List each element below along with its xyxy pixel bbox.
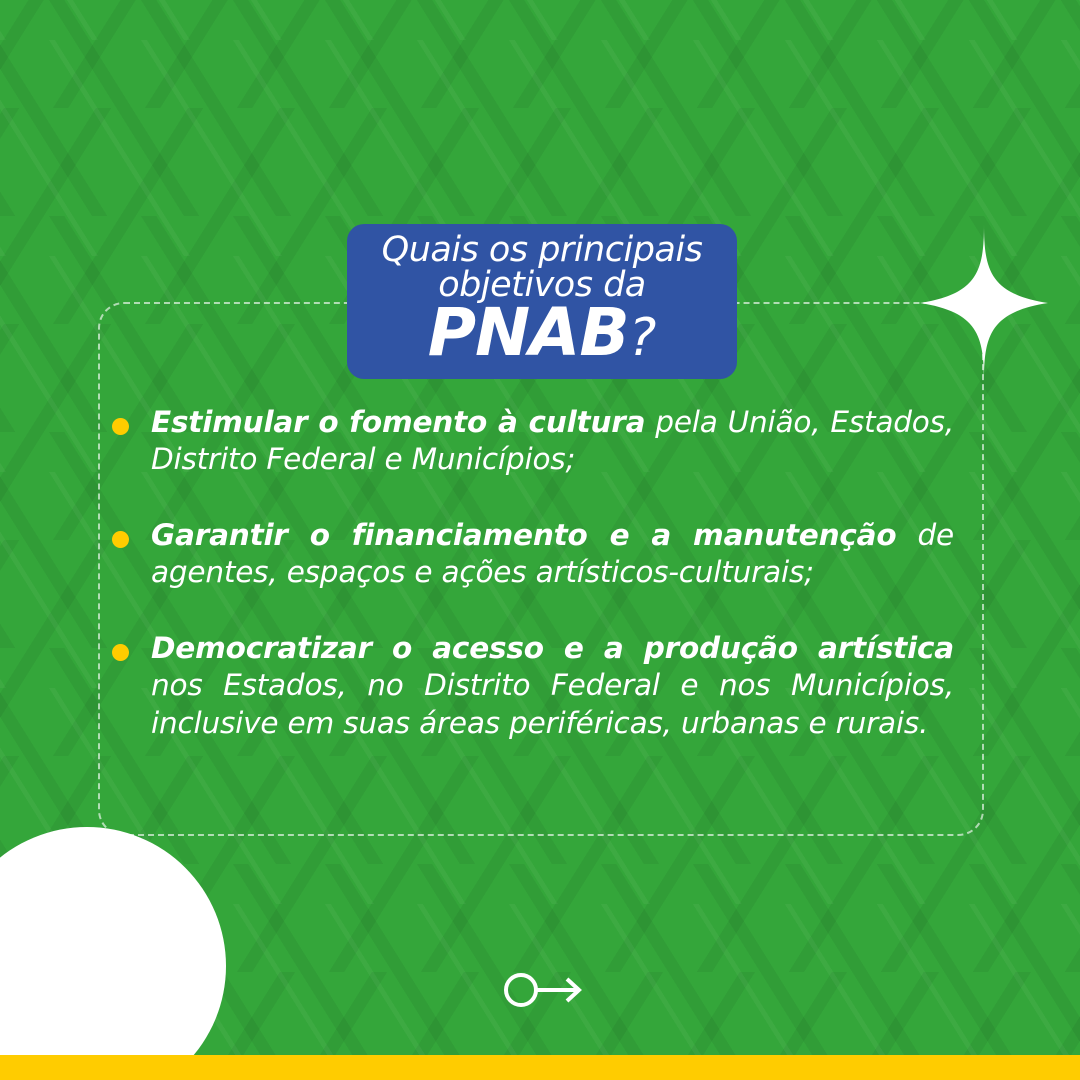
title-question-mark: ? bbox=[629, 312, 657, 364]
objectives-list: Estimular o fomento à cultura pela União… bbox=[112, 404, 954, 742]
title-acronym: PNAB bbox=[428, 300, 629, 366]
list-item: Estimular o fomento à cultura pela União… bbox=[112, 404, 954, 479]
list-item: Democratizar o acesso e a produção artís… bbox=[112, 630, 954, 742]
bullet-text-1: Estimular o fomento à cultura pela União… bbox=[151, 404, 954, 479]
sparkle-star-icon bbox=[920, 224, 1048, 382]
bullet-lead-2: Garantir o financiamento e a manutenção bbox=[151, 518, 896, 552]
title-acronym-row: PNAB ? bbox=[428, 300, 657, 366]
bullet-rest-3: nos Estados, no Distrito Federal e nos M… bbox=[151, 668, 954, 739]
slide-canvas: Quais os principais objetivos da PNAB ? … bbox=[0, 0, 1080, 1080]
bullet-dot-icon bbox=[112, 531, 129, 548]
list-item: Garantir o financiamento e a manutenção … bbox=[112, 517, 954, 592]
bottom-accent-bar bbox=[0, 1055, 1080, 1080]
bullet-text-2: Garantir o financiamento e a manutenção … bbox=[151, 517, 954, 592]
title-banner: Quais os principais objetivos da PNAB ? bbox=[347, 224, 737, 379]
bullet-lead-3: Democratizar o acesso e a produção artís… bbox=[151, 631, 954, 665]
circle-arrow-right-icon[interactable] bbox=[503, 968, 585, 1012]
title-line-1: Quais os principais bbox=[382, 233, 703, 267]
bullet-text-3: Democratizar o acesso e a produção artís… bbox=[151, 630, 954, 742]
bullet-dot-icon bbox=[112, 418, 129, 435]
bullet-lead-1: Estimular o fomento à cultura bbox=[151, 405, 645, 439]
bullet-dot-icon bbox=[112, 644, 129, 661]
